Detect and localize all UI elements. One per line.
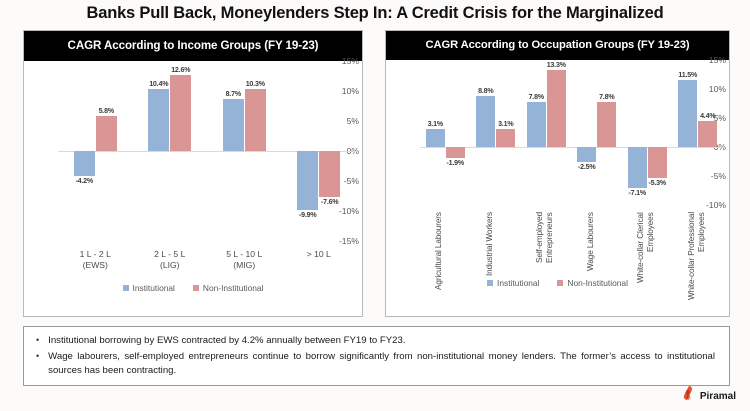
y-axis-tick: -10% bbox=[699, 200, 729, 210]
x-axis-category-label: 2 L - 5 L (LIG) bbox=[133, 249, 207, 271]
bar-value-label: -2.5% bbox=[570, 163, 604, 171]
legend-item[interactable]: Non-Institutional bbox=[557, 278, 628, 288]
bar-non-institutional bbox=[446, 147, 465, 158]
bar-value-label: 3.1% bbox=[418, 120, 452, 128]
legend-label: Non-Institutional bbox=[203, 283, 264, 293]
bar-institutional bbox=[223, 99, 244, 151]
bar-non-institutional bbox=[496, 129, 515, 147]
legend-label: Institutional bbox=[497, 278, 539, 288]
chart-legend: InstitutionalNon-Institutional bbox=[24, 283, 362, 293]
bar-value-label: -7.1% bbox=[620, 189, 654, 197]
bar-value-label: 12.6% bbox=[164, 66, 198, 74]
bar-non-institutional bbox=[648, 147, 667, 178]
bar-non-institutional bbox=[547, 70, 566, 147]
bar-non-institutional bbox=[597, 102, 616, 147]
list-item: • Wage labourers, self-employed entrepre… bbox=[34, 350, 715, 378]
bar-value-label: 8.8% bbox=[469, 87, 503, 95]
bar-value-label: -1.9% bbox=[438, 159, 472, 167]
flame-icon bbox=[681, 385, 698, 407]
bar-non-institutional bbox=[698, 121, 717, 147]
y-axis-tick: 15% bbox=[332, 56, 362, 66]
chart-title-occupation-groups: CAGR According to Occupation Groups (FY … bbox=[386, 31, 729, 60]
bullet-icon: • bbox=[34, 350, 39, 363]
bar-non-institutional bbox=[96, 116, 117, 151]
x-axis-category-label: White-collar Professional Employees bbox=[687, 212, 707, 304]
x-axis-category-label: Industrial Workers bbox=[485, 212, 495, 304]
bar-institutional bbox=[426, 129, 445, 147]
chart-title-income-groups: CAGR According to Income Groups (FY 19-2… bbox=[24, 31, 362, 61]
notes-box: • Institutional borrowing by EWS contrac… bbox=[23, 326, 730, 386]
note-text-2: Wage labourers, self-employed entreprene… bbox=[48, 350, 715, 378]
x-axis-category-label: 5 L - 10 L (MIG) bbox=[207, 249, 281, 271]
bar-institutional bbox=[577, 147, 596, 162]
note-text-1: Institutional borrowing by EWS contracte… bbox=[48, 334, 715, 348]
piramal-logo: Piramal bbox=[681, 385, 736, 407]
y-axis-tick: 10% bbox=[332, 86, 362, 96]
chart-panel-income-groups: CAGR According to Income Groups (FY 19-2… bbox=[23, 30, 363, 317]
bar-value-label: -4.2% bbox=[67, 177, 101, 185]
legend-item[interactable]: Non-Institutional bbox=[193, 283, 264, 293]
chart-legend: InstitutionalNon-Institutional bbox=[386, 278, 729, 288]
x-axis-category-label: 1 L - 2 L (EWS) bbox=[58, 249, 132, 271]
legend-swatch-icon bbox=[123, 285, 129, 291]
legend-swatch-icon bbox=[487, 280, 493, 286]
y-axis-tick: 10% bbox=[699, 84, 729, 94]
bar-value-label: 10.3% bbox=[238, 80, 272, 88]
zero-baseline bbox=[420, 147, 725, 148]
y-axis-tick: 5% bbox=[332, 116, 362, 126]
legend-swatch-icon bbox=[193, 285, 199, 291]
logo-text: Piramal bbox=[700, 391, 736, 402]
x-axis-category-label: Self-employed Entrepreneurs bbox=[535, 212, 555, 304]
x-axis-category-label: Agricultural Labourers bbox=[434, 212, 444, 304]
legend-item[interactable]: Institutional bbox=[487, 278, 539, 288]
plot-area-occupation-groups: 15%10%5%0%-5%-10%3.1%-1.9%Agricultural L… bbox=[386, 60, 729, 306]
bar-non-institutional bbox=[319, 151, 340, 197]
bar-value-label: 13.3% bbox=[539, 61, 573, 69]
bar-value-label: 3.1% bbox=[489, 120, 523, 128]
bar-value-label: 7.8% bbox=[590, 93, 624, 101]
bar-institutional bbox=[527, 102, 546, 147]
slide-root: Banks Pull Back, Moneylenders Step In: A… bbox=[0, 0, 750, 411]
legend-label: Non-Institutional bbox=[567, 278, 628, 288]
bar-value-label: 11.5% bbox=[671, 71, 705, 79]
legend-item[interactable]: Institutional bbox=[123, 283, 175, 293]
x-axis-category-label: White-collar Clerical Employees bbox=[636, 212, 656, 304]
y-axis-tick: -15% bbox=[332, 236, 362, 246]
chart-panel-occupation-groups: CAGR According to Occupation Groups (FY … bbox=[385, 30, 730, 317]
page-title: Banks Pull Back, Moneylenders Step In: A… bbox=[0, 4, 750, 23]
x-axis-category-label: Wage Labourers bbox=[586, 212, 596, 304]
y-axis-tick: -5% bbox=[699, 171, 729, 181]
bar-non-institutional bbox=[245, 89, 266, 151]
bar-value-label: -5.3% bbox=[640, 179, 674, 187]
bar-institutional bbox=[74, 151, 95, 176]
y-axis-tick: 15% bbox=[699, 55, 729, 65]
bar-value-label: -7.6% bbox=[313, 198, 347, 206]
bar-value-label: -9.9% bbox=[291, 211, 325, 219]
bar-value-label: 4.4% bbox=[691, 112, 725, 120]
y-axis-tick: -10% bbox=[332, 206, 362, 216]
legend-label: Institutional bbox=[133, 283, 175, 293]
bar-non-institutional bbox=[170, 75, 191, 151]
x-axis-category-label: > 10 L bbox=[282, 249, 356, 260]
legend-swatch-icon bbox=[557, 280, 563, 286]
plot-area-income-groups: 15%10%5%0%-5%-10%-15%-4.2%5.8%1 L - 2 L … bbox=[24, 61, 362, 307]
bullet-icon: • bbox=[34, 334, 39, 347]
bar-value-label: 5.8% bbox=[89, 107, 123, 115]
bar-institutional bbox=[148, 89, 169, 151]
list-item: • Institutional borrowing by EWS contrac… bbox=[34, 334, 715, 348]
